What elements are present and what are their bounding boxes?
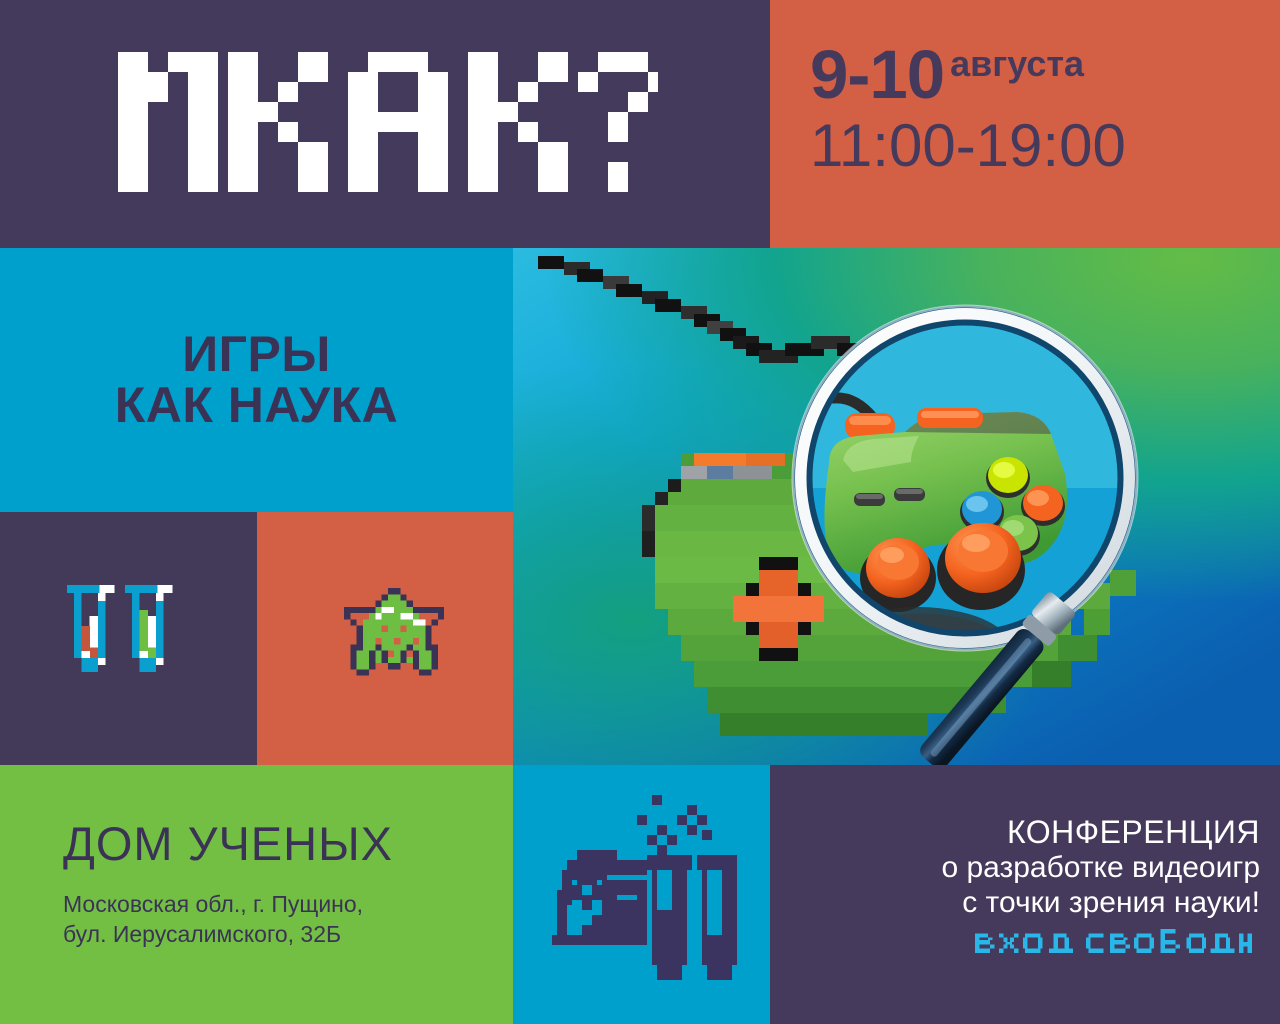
gamepad-test-tubes-icon [552, 795, 737, 985]
event-poster: 9-10 августа 11:00-19:00 ИГРЫ КАК НАУКА [0, 0, 1280, 1024]
hero-image [513, 248, 1280, 765]
tagline-line-2: КАК НАУКА [115, 380, 399, 431]
free-entry-pixel-text [967, 929, 1260, 953]
conference-info: КОНФЕРЕНЦИЯ о разработке видеоигр с точк… [790, 815, 1260, 953]
test-tubes-glyph [62, 575, 182, 695]
pixel-star-glyph [344, 588, 444, 682]
pixel-star-icon [344, 588, 444, 682]
conference-line-1: КОНФЕРЕНЦИЯ [790, 815, 1260, 851]
page-title [118, 52, 658, 192]
event-date-row: 9-10 августа [810, 42, 1270, 108]
conference-line-3: с точки зрения науки! [790, 886, 1260, 921]
conference-line-2: о разработке видеоигр [790, 851, 1260, 886]
venue-name: ДОМ УЧЕНЫХ [63, 820, 493, 867]
event-month: августа [950, 46, 1084, 82]
event-date: 9-10 [810, 42, 944, 108]
gamepad-test-tubes-glyph [552, 795, 737, 985]
free-entry-badge [790, 929, 1260, 953]
event-time: 11:00-19:00 [810, 116, 1270, 176]
pixel-gamepad-photo [513, 248, 1280, 765]
venue-address-line-2: бул. Иерусалимского, 32Б [63, 919, 493, 949]
pixel-title-glyphs [118, 52, 658, 192]
header-title-panel [0, 0, 770, 248]
tagline: ИГРЫ КАК НАУКА [0, 248, 513, 512]
tagline-line-1: ИГРЫ [182, 329, 331, 380]
venue: ДОМ УЧЕНЫХ Московская обл., г. Пущино, б… [63, 820, 493, 950]
event-datetime: 9-10 августа 11:00-19:00 [810, 42, 1270, 212]
test-tubes-icon [62, 575, 182, 695]
venue-address-line-1: Московская обл., г. Пущино, [63, 889, 493, 919]
venue-address: Московская обл., г. Пущино, бул. Иерусал… [63, 889, 493, 950]
